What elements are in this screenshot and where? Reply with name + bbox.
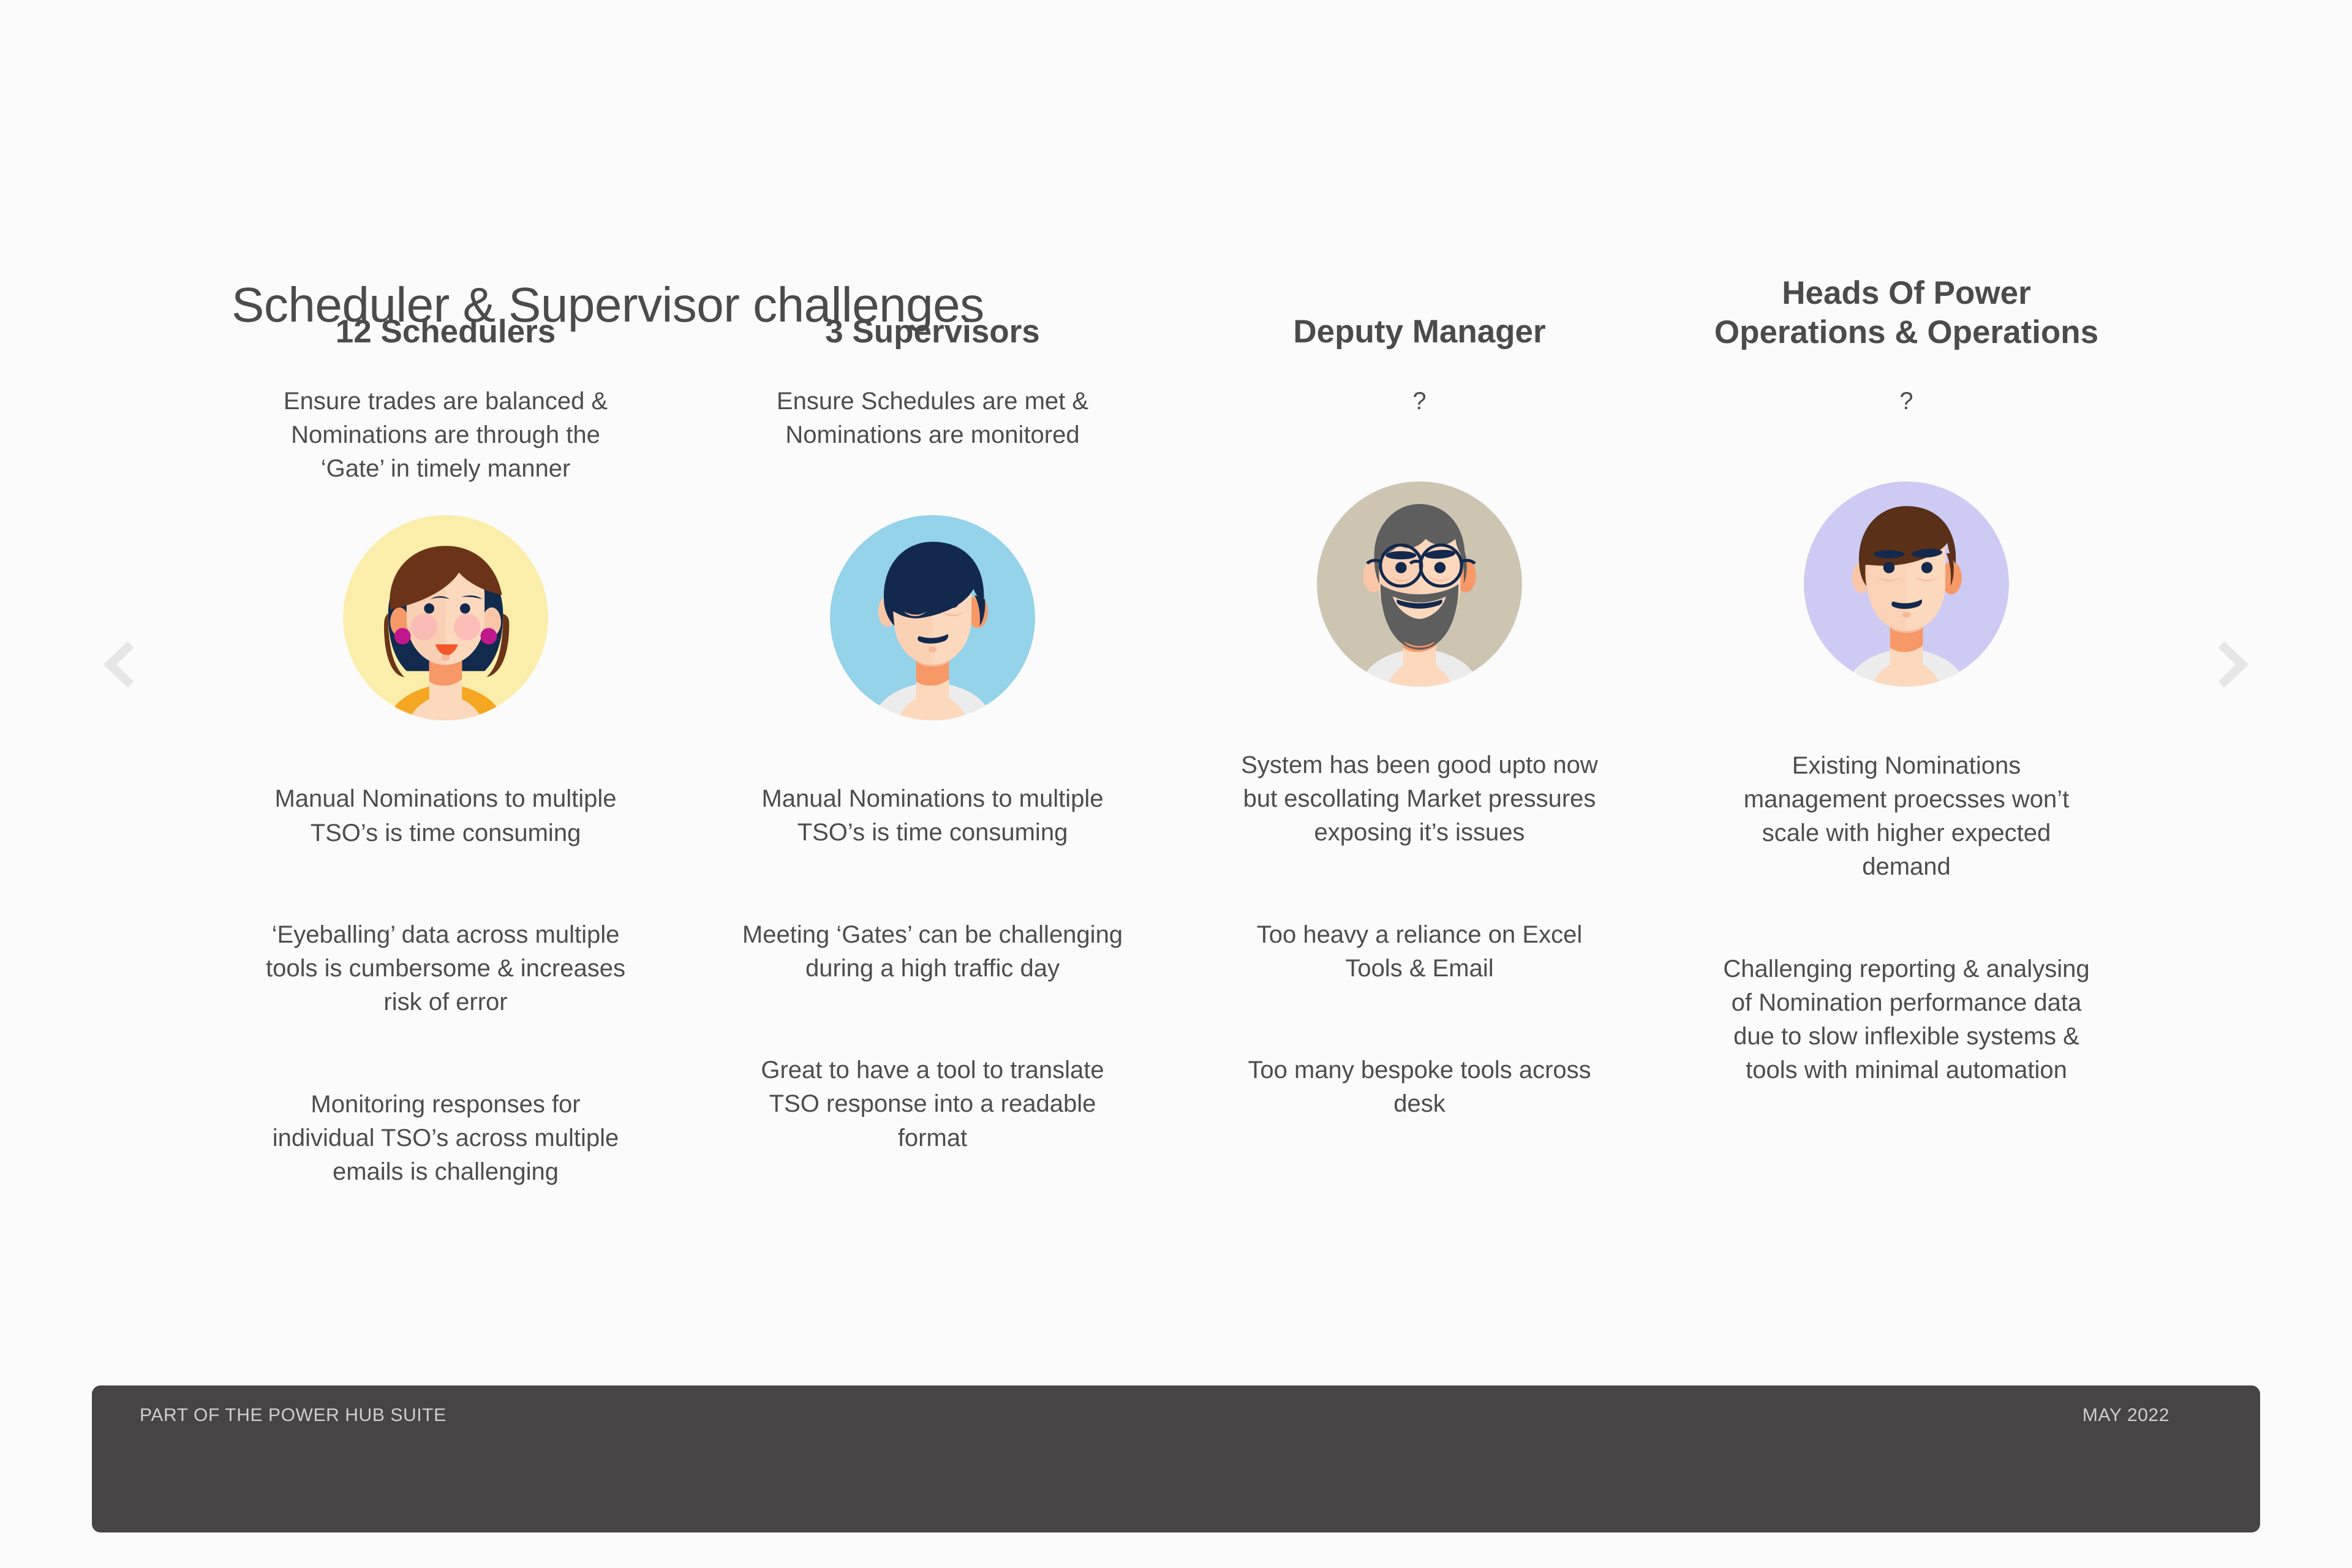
footer-suite-label: PART OF THE POWER HUB SUITE — [140, 1405, 447, 1426]
pain-point: Too many bespoke tools across desk — [1221, 1053, 1619, 1121]
chevron-right-icon — [2200, 635, 2259, 694]
persona-role-title: 3 Supervisors — [718, 312, 1147, 352]
persona-column-schedulers: 12 Schedulers Ensure trades are balanced… — [202, 312, 689, 1223]
avatar — [343, 515, 548, 720]
persona-pain-points: System has been good upto now but escoll… — [1221, 715, 1619, 1155]
persona-column-deputy-manager: Deputy Manager ? — [1176, 312, 1663, 1155]
carousel-prev-button[interactable] — [86, 628, 159, 701]
persona-column-heads-of-operations: Heads Of Power Operations & Operations ? — [1663, 312, 2150, 1121]
pain-point: Manual Nominations to multiple TSO’s is … — [734, 782, 1132, 850]
persona-duty-text: ? — [1711, 385, 2103, 418]
persona-duty-text: ? — [1224, 385, 1616, 418]
avatar — [1317, 481, 1522, 687]
pain-point: ‘Eyeballing’ data across multiple tools … — [247, 918, 645, 1020]
persona-role-title: 12 Schedulers — [232, 312, 660, 352]
pain-point: Meeting ‘Gates’ can be challenging durin… — [734, 918, 1132, 986]
avatar — [1804, 481, 2009, 687]
persona-duty-text: Ensure Schedules are met & Nominations a… — [737, 385, 1129, 452]
carousel-next-button[interactable] — [2193, 628, 2266, 701]
persona-role-title: Heads Of Power Operations & Operations — [1692, 274, 2121, 352]
avatar — [830, 515, 1035, 720]
persona-pain-points: Existing Nominations management proecsse… — [1708, 715, 2106, 1121]
pain-point: Monitoring responses for individual TSO’… — [247, 1088, 645, 1189]
persona-column-supervisors: 3 Supervisors Ensure Schedules are met &… — [689, 312, 1176, 1189]
persona-pain-points: Manual Nominations to multiple TSO’s is … — [247, 748, 645, 1223]
chevron-left-icon — [93, 635, 152, 694]
pain-point: Too heavy a reliance on Excel Tools & Em… — [1221, 918, 1619, 986]
persona-pain-points: Manual Nominations to multiple TSO’s is … — [734, 748, 1132, 1189]
pain-point: Manual Nominations to multiple TSO’s is … — [247, 782, 645, 850]
pain-point: Existing Nominations management proecsse… — [1708, 749, 2106, 884]
slide-root: Scheduler & Supervisor challenges 12 Sch… — [0, 0, 2352, 1568]
pain-point: System has been good upto now but escoll… — [1221, 748, 1619, 850]
footer-date-label: MAY 2022 — [2082, 1405, 2169, 1426]
persona-role-title: Deputy Manager — [1205, 312, 1634, 352]
pain-point: Challenging reporting & analysing of Nom… — [1708, 952, 2106, 1088]
persona-duty-text: Ensure trades are balanced & Nominations… — [250, 385, 642, 486]
persona-columns: 12 Schedulers Ensure trades are balanced… — [202, 312, 2150, 1223]
pain-point: Great to have a tool to translate TSO re… — [734, 1053, 1132, 1155]
